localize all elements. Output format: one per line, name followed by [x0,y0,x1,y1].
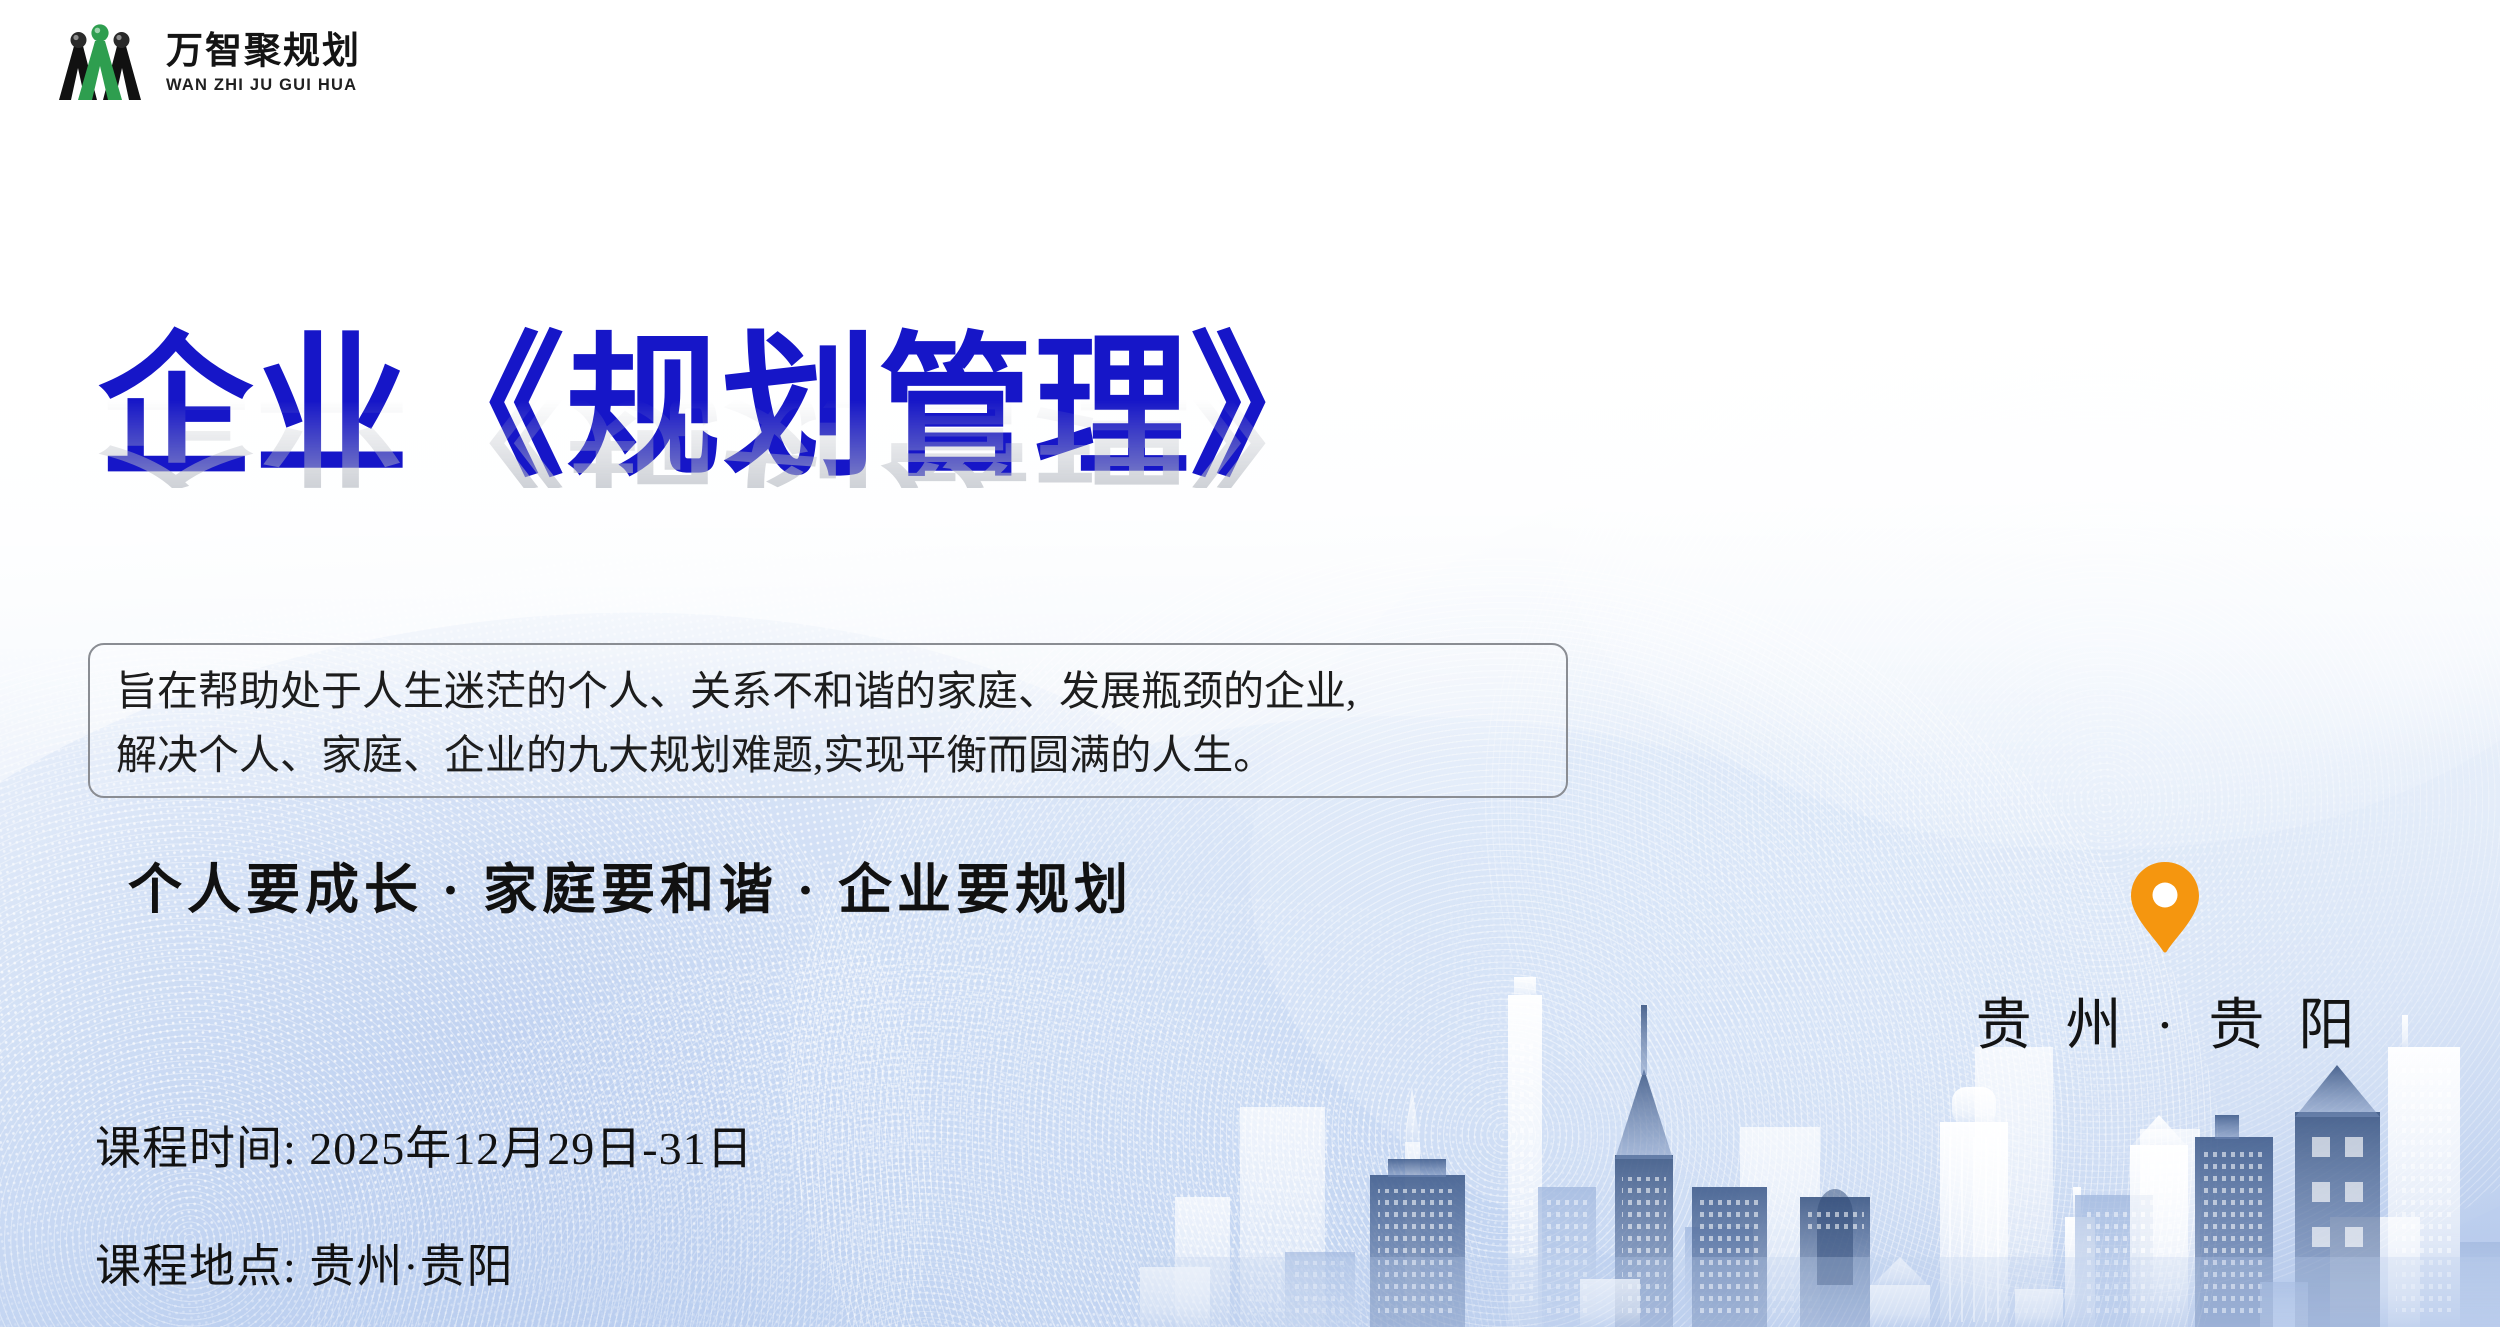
course-info-block: 课程时间: 2025年12月29日-31日 课程地点: 贵州·贵阳 [95,1112,754,1296]
course-place-row: 课程地点: 贵州·贵阳 [95,1230,754,1296]
brand-logo-text: 万智聚规划 WAN ZHI JU GUI HUA [166,33,361,94]
brand-name-cn: 万智聚规划 [166,33,361,70]
description-line-1: 旨在帮助处于人生迷茫的个人、关系不和谐的家庭、发展瓶颈的企业, [116,659,1542,723]
slogan-text: 个人要成长 · 家庭要和谐 · 企业要规划 [128,845,1133,924]
location-block: 贵 州 · 贵 阳 [1955,860,2375,1061]
page-title-reflection: 企业《规划管理》 [98,392,1346,488]
poster-canvas: 万智聚规划 WAN ZHI JU GUI HUA 企业《规划管理》 企业《规划管… [0,0,2500,1327]
three-people-mark-icon [52,22,148,104]
description-box: 旨在帮助处于人生迷茫的个人、关系不和谐的家庭、发展瓶颈的企业, 解决个人、家庭、… [88,643,1568,798]
wave-blob-upper-right [1550,150,2500,850]
brand-name-en: WAN ZHI JU GUI HUA [166,77,361,94]
location-label: 贵 州 · 贵 阳 [1966,980,2365,1061]
hero-title-group: 企业《规划管理》 企业《规划管理》 [98,330,1658,630]
map-pin-icon [2128,860,2202,954]
course-time-row: 课程时间: 2025年12月29日-31日 [95,1112,754,1178]
description-line-2: 解决个人、家庭、企业的九大规划难题,实现平衡而圆满的人生。 [116,723,1542,787]
brand-logo: 万智聚规划 WAN ZHI JU GUI HUA [52,22,361,104]
